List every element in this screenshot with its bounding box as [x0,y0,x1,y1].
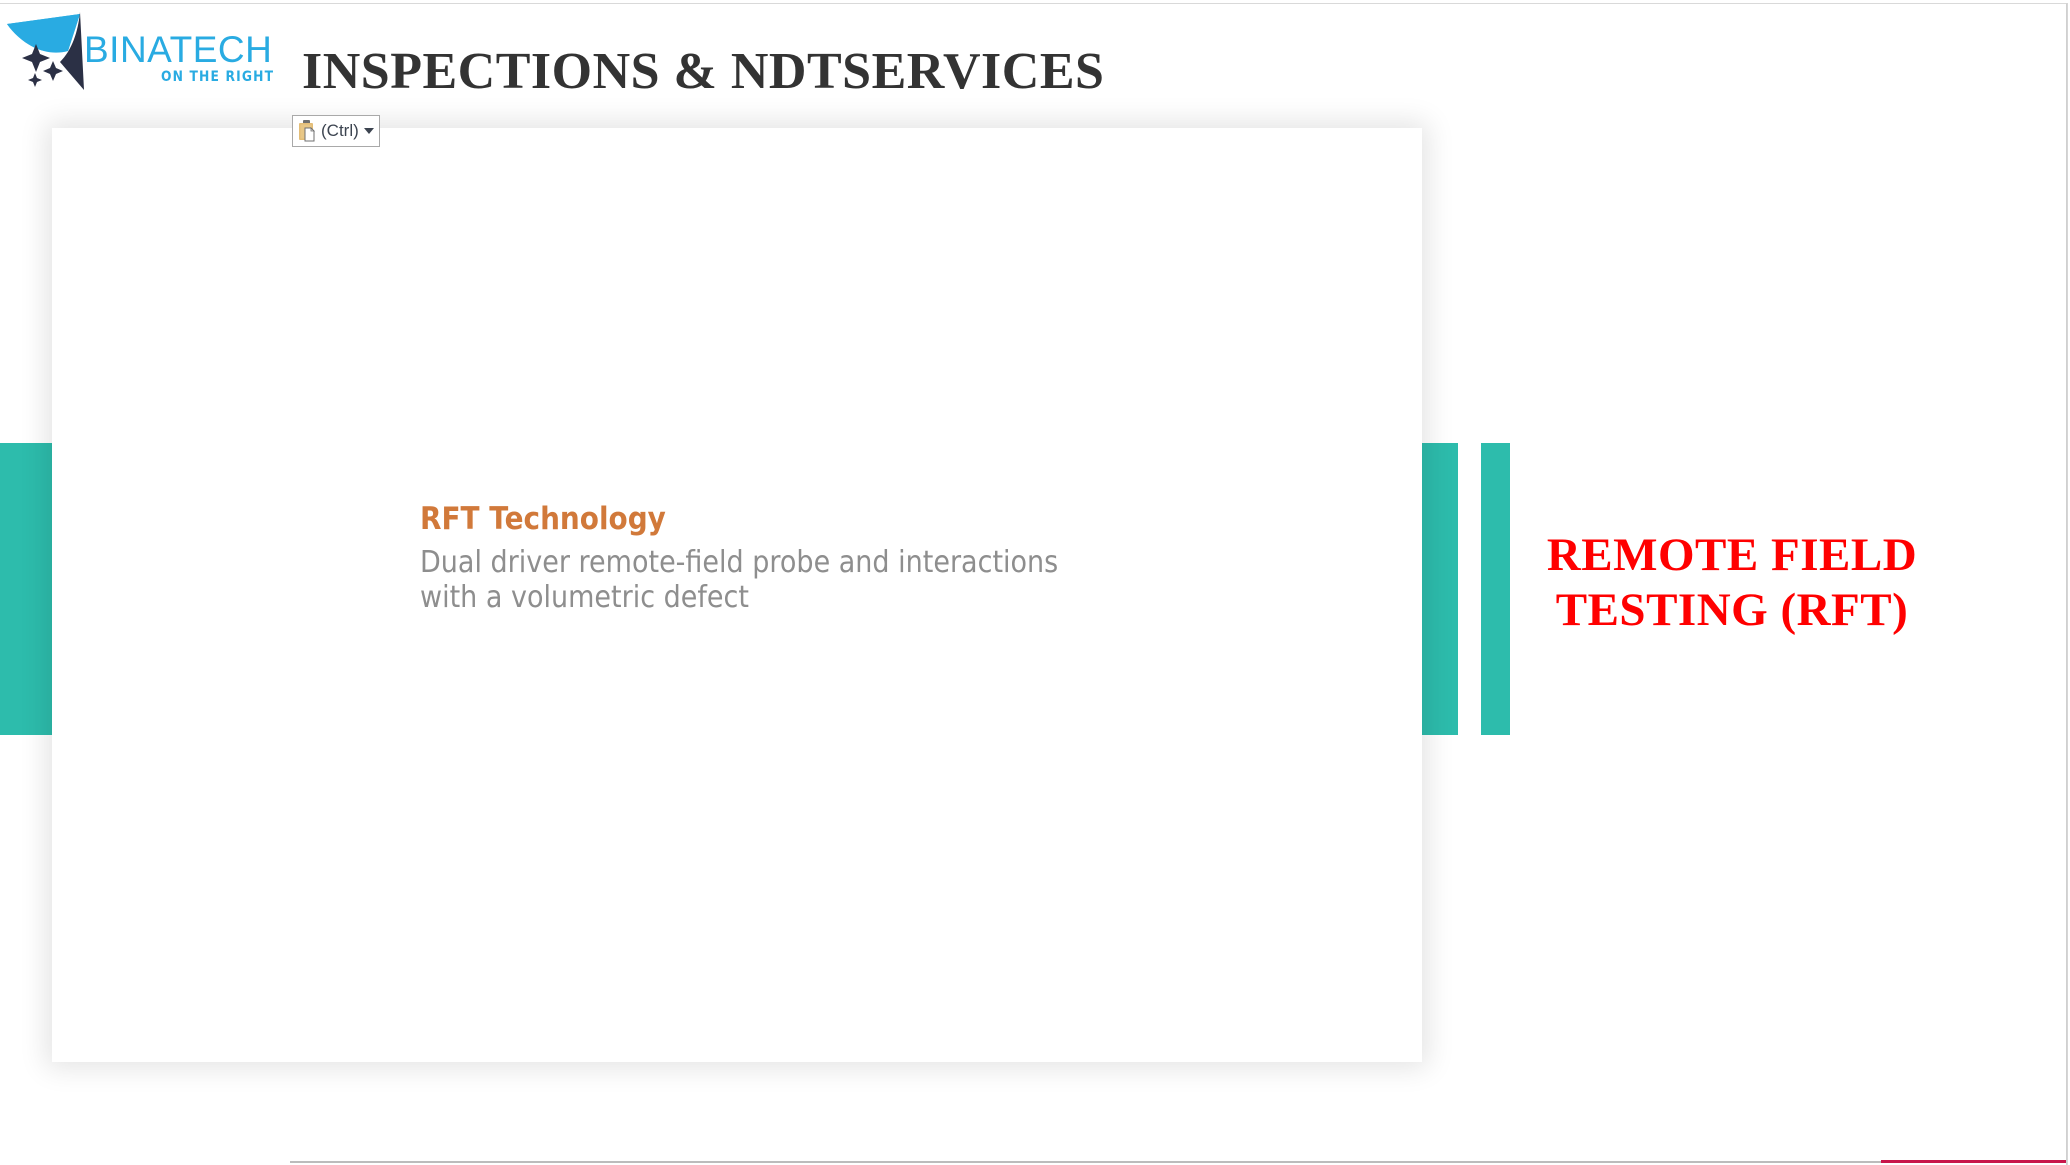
page-right-border [2067,3,2068,1165]
paste-options-button[interactable]: (Ctrl) [292,115,380,147]
paste-options-label: (Ctrl) [321,122,359,140]
logo-tagline: ON THE RIGHT [161,70,274,84]
footer-rule [290,1161,1881,1163]
rft-body-text: Dual driver remote-field probe and inter… [420,545,1099,616]
logo-wordmark: BINATECH [84,31,272,68]
rft-heading: RFT Technology [420,502,1032,536]
rft-body-line-1: Dual driver remote-field probe and inter… [420,545,1099,580]
rft-body-line-2: with a volumetric defect [420,580,1099,615]
section-heading-line-1: REMOTE FIELD [1512,528,1952,583]
clipboard-paste-icon [297,119,319,143]
accent-bar-right [1481,443,1510,735]
chevron-down-icon[interactable] [364,128,374,134]
footer-accent-rule [1881,1160,2066,1163]
slide-content-panel[interactable]: RFT Technology Dual driver remote-field … [52,128,1422,1062]
slide-title: INSPECTIONS & NDTSERVICES [302,46,1104,98]
binatech-logo: BINATECH ON THE RIGHT [6,4,268,92]
section-heading-line-2: TESTING (RFT) [1512,583,1952,638]
accent-bar-middle [1421,443,1458,735]
rft-text-block: RFT Technology Dual driver remote-field … [420,502,1100,616]
accent-bar-left [0,443,52,735]
section-heading: REMOTE FIELD TESTING (RFT) [1512,528,1952,638]
